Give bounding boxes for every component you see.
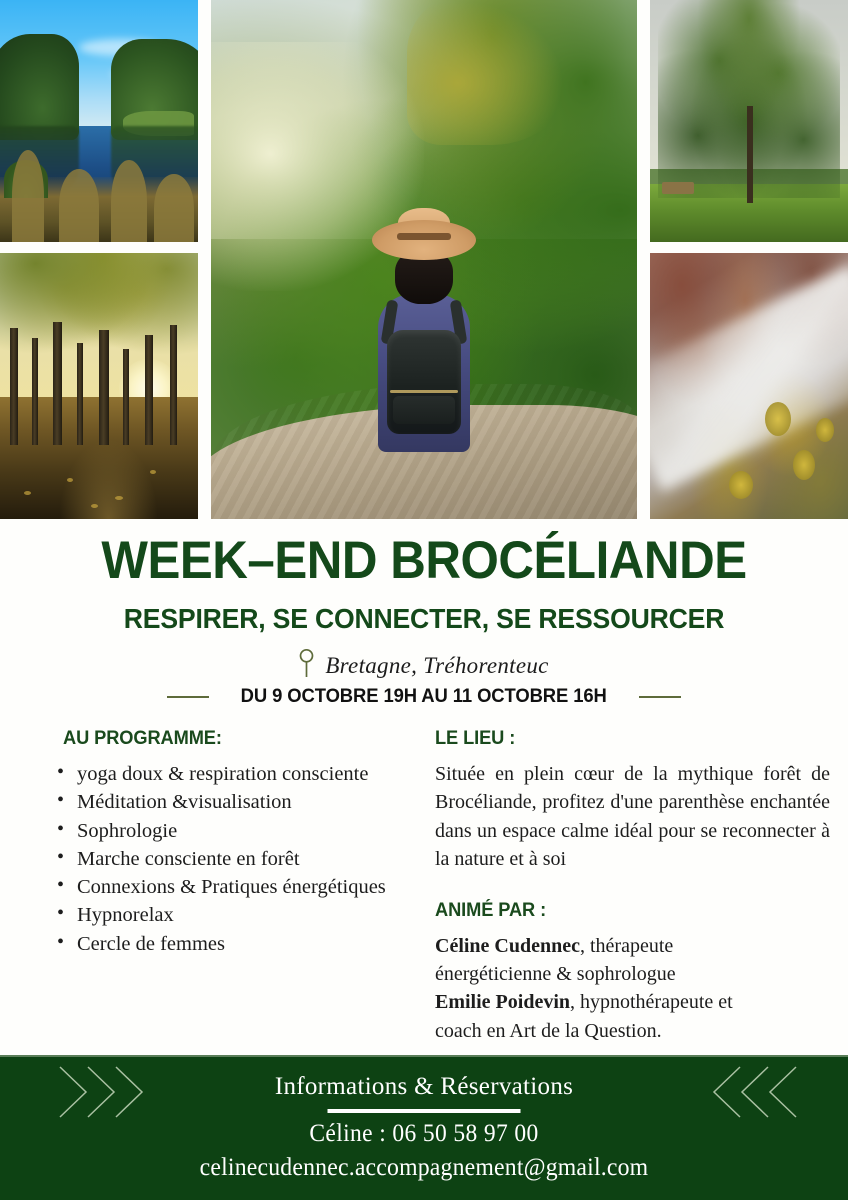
tree-trunk (32, 338, 38, 444)
host-role-1: , thérapeute (580, 935, 673, 957)
chevrons-left-icon (704, 1063, 800, 1126)
straw-hat (372, 220, 476, 260)
list-item: Marche consciente en forêt (55, 845, 445, 873)
host-name-2: Emilie Poidevin (435, 991, 570, 1013)
list-item: yoga doux & respiration consciente (55, 760, 445, 788)
programme-column: AU PROGRAMME: yoga doux & respiration co… (55, 728, 445, 958)
list-item: Sophrologie (55, 817, 445, 845)
venue-description: Située en plein cœur de la mythique forê… (435, 760, 830, 874)
tree-trunk (99, 330, 109, 444)
tree-trunk (145, 335, 153, 444)
hosts-heading: ANIMÉ PAR : (435, 900, 814, 922)
host-role-1-cont: énergéticienne & sophrologue (435, 963, 676, 985)
venue-heading: LE LIEU : (435, 728, 814, 750)
backpack-zipper (390, 390, 458, 393)
host-role-2: , hypnothérapeute et (570, 991, 733, 1013)
pine-tree-photo (650, 0, 848, 242)
poster-subtitle: RESPIRER, SE CONNECTER, SE RESSOURCER (21, 605, 827, 633)
reed-tuft (111, 160, 147, 242)
list-item: Méditation &visualisation (55, 788, 445, 816)
list-item: Cercle de femmes (55, 930, 445, 958)
photo-collage (0, 0, 848, 519)
hosts-block: ANIMÉ PAR : Céline Cudennec, thérapeute … (435, 900, 830, 1046)
location-row: Bretagne, Tréhorenteuc (0, 648, 848, 683)
yellow-tree (793, 450, 815, 480)
dash-left (167, 696, 209, 698)
yellow-tree (765, 402, 791, 436)
programme-heading: AU PROGRAMME: (63, 728, 430, 750)
tree-trunk (10, 328, 18, 445)
content-columns: AU PROGRAMME: yoga doux & respiration co… (0, 728, 848, 1048)
footer-top-rule (0, 1055, 848, 1057)
footer-email[interactable]: celinecudennec.accompagnement@gmail.com (21, 1154, 827, 1182)
host-role-2-cont: coach en Art de la Question. (435, 1020, 662, 1042)
hosts-text: Céline Cudennec, thérapeute énergéticien… (435, 932, 830, 1046)
programme-list: yoga doux & respiration consciente Médit… (55, 760, 445, 958)
wooden-bench (662, 182, 694, 194)
reed-tuft (59, 169, 99, 242)
footer-divider (328, 1109, 521, 1113)
chevrons-right-icon (56, 1063, 152, 1126)
tree-bank-left (0, 34, 79, 140)
details-column: LE LIEU : Située en plein cœur de la myt… (435, 728, 830, 1045)
autumn-forest-photo (0, 253, 198, 519)
tree-trunk (123, 349, 129, 445)
fallen-leaf (67, 478, 73, 482)
event-dates: DU 9 OCTOBRE 19H AU 11 OCTOBRE 16H (241, 686, 607, 708)
date-row: DU 9 OCTOBRE 19H AU 11 OCTOBRE 16H (0, 686, 848, 708)
tree-trunk (170, 325, 177, 445)
poster-title: WEEK–END BROCÉLIANDE (30, 534, 819, 587)
host-name-1: Céline Cudennec (435, 935, 580, 957)
reed-tuft (12, 150, 44, 242)
hiker-on-rock-photo (211, 0, 637, 519)
seated-hiker-figure (366, 220, 482, 452)
lake-reflection-photo (0, 0, 198, 242)
list-item: Hypnorelax (55, 901, 445, 929)
aerial-misty-forest-photo (650, 253, 848, 519)
reed-tuft (154, 174, 194, 242)
location-name: Bretagne, Tréhorenteuc (325, 653, 548, 679)
fallen-leaf (24, 491, 31, 495)
tree-trunk (53, 322, 62, 444)
forest-path (59, 439, 158, 519)
list-item: Connexions & Pratiques énergétiques (55, 873, 445, 901)
tree-trunk (77, 343, 83, 444)
backpack-pocket (393, 396, 455, 424)
pine-trunk (747, 106, 753, 203)
map-pin-icon (299, 648, 314, 683)
poster-root: WEEK–END BROCÉLIANDE RESPIRER, SE CONNEC… (0, 0, 848, 1200)
dash-right (639, 696, 681, 698)
hat-band (397, 233, 451, 240)
